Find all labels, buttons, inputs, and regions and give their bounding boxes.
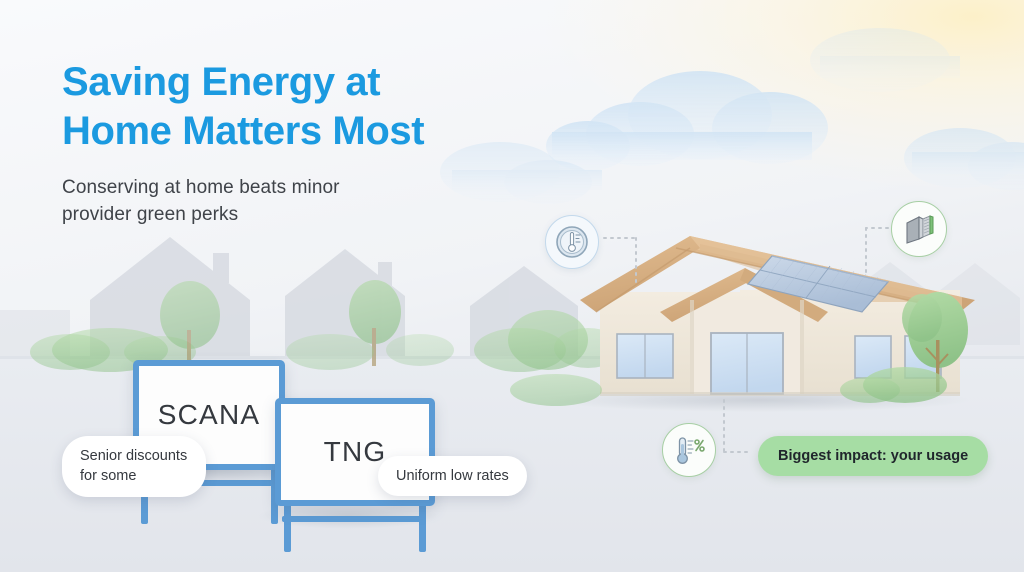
thermostat-glyph: [552, 222, 592, 262]
connector-lines: [0, 0, 1024, 572]
infographic-canvas: Saving Energy at Home Matters Most Conse…: [0, 0, 1024, 572]
humidity-glyph: [669, 430, 709, 470]
insulation-glyph: [899, 209, 939, 249]
humidity-thermometer-icon[interactable]: [662, 423, 716, 477]
insulation-panel-icon[interactable]: [891, 201, 947, 257]
thermostat-icon[interactable]: [545, 215, 599, 269]
